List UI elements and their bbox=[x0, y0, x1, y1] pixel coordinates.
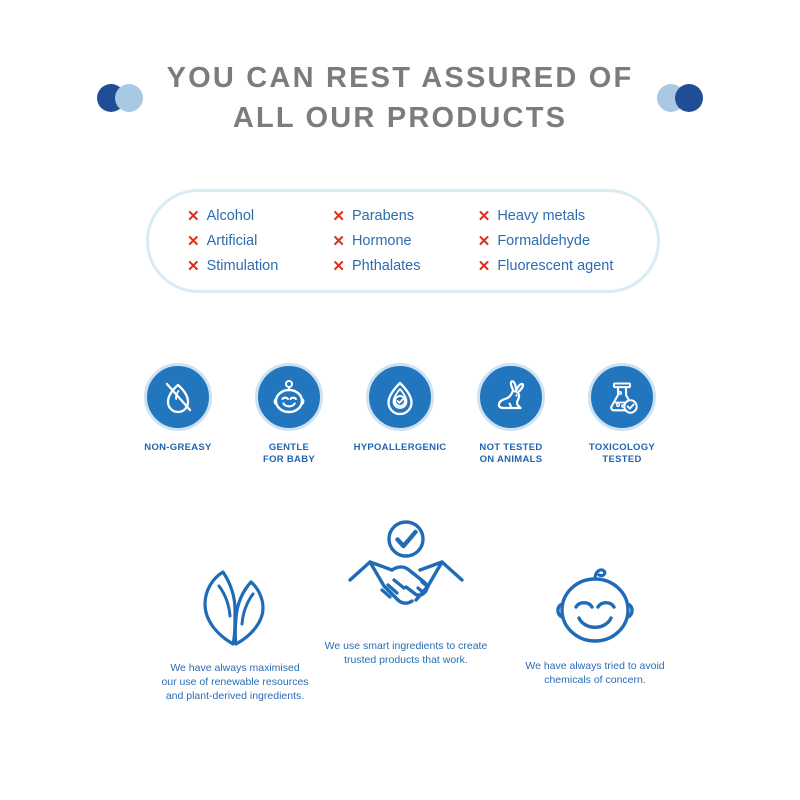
badge-toxicology-tested: TOXICOLOGY TESTED bbox=[586, 363, 658, 466]
list-item-label: Phthalates bbox=[352, 258, 421, 274]
badge-label: NOT TESTED ON ANIMALS bbox=[479, 442, 542, 466]
x-mark-icon: ✕ bbox=[332, 234, 345, 249]
list-item-label: Hormone bbox=[352, 233, 412, 249]
list-item: ✕ Hormone bbox=[332, 229, 477, 254]
list-item: ✕ Alcohol bbox=[187, 204, 332, 229]
badge-not-tested-on-animals: NOT TESTED ON ANIMALS bbox=[475, 363, 547, 466]
badge-circle bbox=[366, 363, 434, 431]
x-mark-icon: ✕ bbox=[478, 209, 491, 224]
x-mark-icon: ✕ bbox=[187, 209, 200, 224]
list-item-label: Parabens bbox=[352, 208, 414, 224]
feature-avoid-chemicals: We have always tried to avoid chemicals … bbox=[500, 562, 690, 687]
badge-label: TOXICOLOGY TESTED bbox=[589, 442, 655, 466]
rabbit-icon bbox=[489, 375, 533, 419]
baby-face-icon bbox=[267, 375, 311, 419]
feature-caption: We have always maximised our use of rene… bbox=[161, 661, 308, 703]
feature-renewable-resources: We have always maximised our use of rene… bbox=[145, 560, 325, 703]
feature-caption: We have always tried to avoid chemicals … bbox=[525, 659, 664, 687]
list-item-label: Artificial bbox=[207, 233, 258, 249]
list-item: ✕ Artificial bbox=[187, 229, 332, 254]
list-item-label: Alcohol bbox=[207, 208, 255, 224]
list-item-label: Stimulation bbox=[207, 258, 279, 274]
droplet-check-icon bbox=[379, 376, 421, 418]
two-leaves-icon bbox=[189, 560, 281, 652]
feature-icon-wrap bbox=[336, 518, 476, 630]
badge-circle bbox=[255, 363, 323, 431]
free-from-column: ✕ Alcohol ✕ Artificial ✕ Stimulation bbox=[187, 204, 332, 279]
list-item: ✕ Heavy metals bbox=[478, 204, 657, 229]
list-item: ✕ Formaldehyde bbox=[478, 229, 657, 254]
handshake-check-icon bbox=[336, 518, 476, 630]
certification-badge-row: NON-GREASY GENTLE FOR BABY bbox=[0, 363, 800, 466]
badge-hypoallergenic: HYPOALLERGENIC bbox=[364, 363, 436, 466]
badge-label: NON-GREASY bbox=[144, 442, 211, 454]
decorative-dots-left bbox=[97, 84, 143, 112]
list-item: ✕ Parabens bbox=[332, 204, 477, 229]
dot-light-icon bbox=[115, 84, 143, 112]
feature-icon-wrap bbox=[543, 562, 647, 650]
free-from-column: ✕ Heavy metals ✕ Formaldehyde ✕ Fluoresc… bbox=[478, 204, 657, 279]
feature-icon-wrap bbox=[189, 560, 281, 652]
badge-label: HYPOALLERGENIC bbox=[354, 442, 447, 454]
list-item: ✕ Stimulation bbox=[187, 254, 332, 279]
badge-label: GENTLE FOR BABY bbox=[263, 442, 315, 466]
free-from-column: ✕ Parabens ✕ Hormone ✕ Phthalates bbox=[332, 204, 477, 279]
list-item-label: Formaldehyde bbox=[497, 233, 590, 249]
list-item-label: Fluorescent agent bbox=[497, 258, 613, 274]
product-assurance-page: YOU CAN REST ASSURED OF ALL OUR PRODUCTS… bbox=[0, 0, 800, 800]
page-title: YOU CAN REST ASSURED OF ALL OUR PRODUCTS bbox=[165, 58, 635, 138]
x-mark-icon: ✕ bbox=[478, 259, 491, 274]
list-item-label: Heavy metals bbox=[497, 208, 585, 224]
list-item: ✕ Phthalates bbox=[332, 254, 477, 279]
x-mark-icon: ✕ bbox=[478, 234, 491, 249]
dot-dark-icon bbox=[675, 84, 703, 112]
flask-check-icon bbox=[601, 376, 643, 418]
page-title-line-1: YOU CAN REST ASSURED OF bbox=[165, 58, 635, 98]
page-title-line-2: ALL OUR PRODUCTS bbox=[165, 98, 635, 138]
feature-trusted-products: We use smart ingredients to create trust… bbox=[308, 518, 504, 667]
x-mark-icon: ✕ bbox=[332, 259, 345, 274]
x-mark-icon: ✕ bbox=[332, 209, 345, 224]
badge-circle bbox=[477, 363, 545, 431]
feature-row: We have always maximised our use of rene… bbox=[0, 518, 800, 718]
page-header: YOU CAN REST ASSURED OF ALL OUR PRODUCTS bbox=[0, 58, 800, 138]
decorative-dots-right bbox=[657, 84, 703, 112]
leaf-slash-icon bbox=[157, 376, 199, 418]
badge-circle bbox=[144, 363, 212, 431]
list-item: ✕ Fluorescent agent bbox=[478, 254, 657, 279]
badge-gentle-for-baby: GENTLE FOR BABY bbox=[253, 363, 325, 466]
badge-circle bbox=[588, 363, 656, 431]
badge-non-greasy: NON-GREASY bbox=[142, 363, 214, 466]
x-mark-icon: ✕ bbox=[187, 259, 200, 274]
feature-caption: We use smart ingredients to create trust… bbox=[325, 639, 488, 667]
x-mark-icon: ✕ bbox=[187, 234, 200, 249]
smiling-baby-icon bbox=[543, 562, 647, 650]
free-from-list-box: ✕ Alcohol ✕ Artificial ✕ Stimulation ✕ P… bbox=[146, 189, 660, 293]
